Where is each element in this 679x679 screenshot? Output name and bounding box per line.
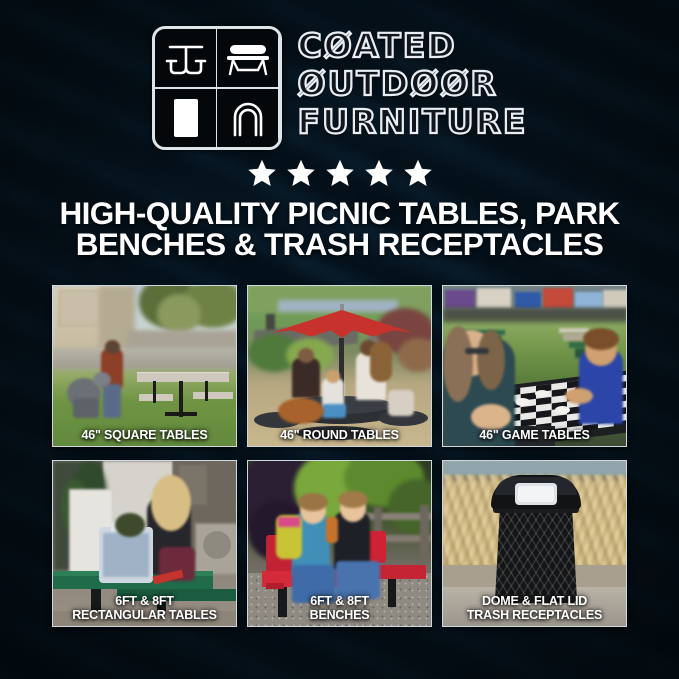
brand-logo: CØATED ØUTDØØR FURNITURE xyxy=(0,26,679,150)
wordmark-line-3: FURNITURE xyxy=(298,104,528,140)
caption-line-1: 46" SQUARE TABLES xyxy=(53,429,236,443)
wordmark-line-2: ØUTDØØR xyxy=(298,66,528,102)
product-caption: 46" GAME TABLES xyxy=(443,429,626,443)
product-card-round-tables[interactable]: 46" ROUND TABLES xyxy=(247,285,432,447)
wordmark-line-1: CØATED xyxy=(298,28,528,64)
caption-line-1: DOME & FLAT LID xyxy=(443,595,626,609)
caption-line-2: BENCHES xyxy=(248,609,431,623)
product-card-trash-receptacles[interactable]: DOME & FLAT LID TRASH RECEPTACLES xyxy=(442,460,627,627)
product-grid: 46" SQUARE TABLES xyxy=(52,285,627,627)
logo-icon-grid xyxy=(152,26,282,150)
caption-line-2: TRASH RECEPTACLES xyxy=(443,609,626,623)
product-caption: 46" ROUND TABLES xyxy=(248,429,431,443)
product-card-square-tables[interactable]: 46" SQUARE TABLES xyxy=(52,285,237,447)
caption-line-1: 6FT & 8FT xyxy=(53,595,236,609)
headline: HIGH-QUALITY PICNIC TABLES, PARK BENCHES… xyxy=(30,198,649,260)
star-icon xyxy=(325,158,355,188)
product-card-game-tables[interactable]: 46" GAME TABLES xyxy=(442,285,627,447)
caption-line-1: 6FT & 8FT xyxy=(248,595,431,609)
promo-banner: CØATED ØUTDØØR FURNITURE HIGH-QUALITY PI… xyxy=(0,0,679,679)
star-icon xyxy=(286,158,316,188)
bike-rack-icon xyxy=(216,87,280,148)
star-rating xyxy=(0,158,679,188)
caption-line-2: RECTANGULAR TABLES xyxy=(53,609,236,623)
scene-round-tables xyxy=(248,286,431,446)
scene-game-tables xyxy=(443,286,626,446)
product-caption: 46" SQUARE TABLES xyxy=(53,429,236,443)
caption-line-1: 46" ROUND TABLES xyxy=(248,429,431,443)
headline-line-2: BENCHES & TRASH RECEPTACLES xyxy=(30,229,649,260)
scene-square-tables xyxy=(53,286,236,446)
star-icon xyxy=(364,158,394,188)
product-caption: 6FT & 8FT RECTANGULAR TABLES xyxy=(53,595,236,622)
product-card-benches[interactable]: 6FT & 8FT BENCHES xyxy=(247,460,432,627)
caption-line-1: 46" GAME TABLES xyxy=(443,429,626,443)
bench-icon xyxy=(216,28,280,89)
product-caption: DOME & FLAT LID TRASH RECEPTACLES xyxy=(443,595,626,622)
trash-receptacle-icon xyxy=(154,87,218,148)
star-icon xyxy=(247,158,277,188)
product-card-rectangular-tables[interactable]: 6FT & 8FT RECTANGULAR TABLES xyxy=(52,460,237,627)
brand-wordmark: CØATED ØUTDØØR FURNITURE xyxy=(298,26,528,140)
product-caption: 6FT & 8FT BENCHES xyxy=(248,595,431,622)
picnic-table-icon xyxy=(154,28,218,89)
star-icon xyxy=(403,158,433,188)
